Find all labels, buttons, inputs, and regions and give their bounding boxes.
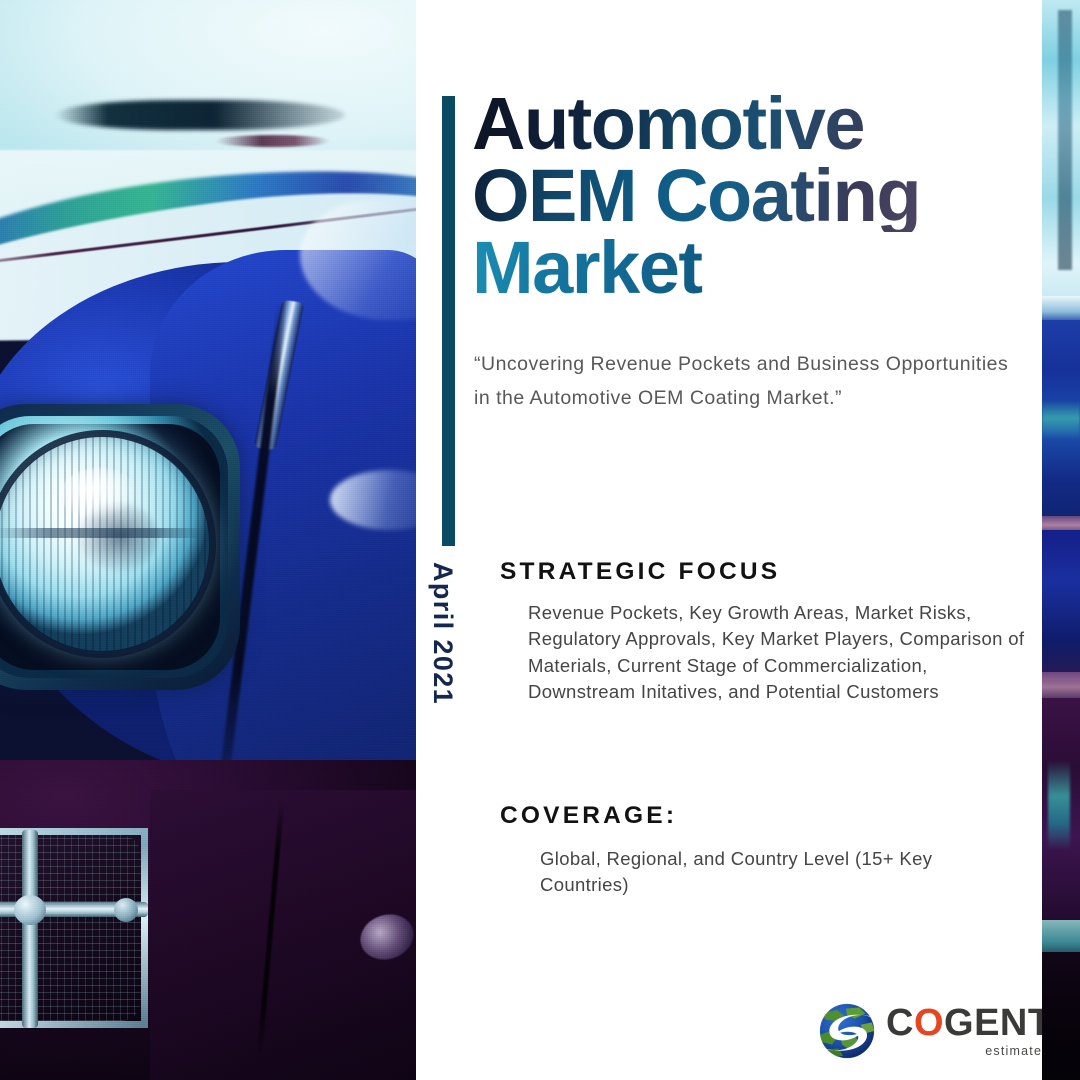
page-title-line-1: Automotive	[472, 88, 1032, 160]
logo-word: COGENT	[886, 1004, 1052, 1042]
logo-word-part1: C	[886, 1002, 914, 1044]
cogent-estimates-logo: COGENT estimates	[816, 1000, 1052, 1062]
page-title-line-3: Market	[472, 232, 1032, 304]
subtitle-quote: “Uncovering Revenue Pockets and Business…	[474, 348, 1020, 415]
right-photo-strip	[1042, 0, 1080, 1080]
page-title: Automotive OEM Coating Market	[472, 88, 1032, 303]
strategic-focus-body: Revenue Pockets, Key Growth Areas, Marke…	[528, 600, 1028, 706]
strip-blue-body-lower	[1042, 530, 1080, 680]
strip-teal-highlight	[1042, 400, 1080, 440]
strip-shadow-band	[1042, 952, 1080, 1080]
publication-date: April 2021	[424, 562, 458, 782]
coverage-body: Global, Regional, and Country Level (15+…	[540, 846, 1010, 899]
left-photo-classic-car	[0, 0, 416, 1080]
globe-icon	[816, 1000, 878, 1062]
photo-film-grain	[0, 0, 416, 1080]
logo-wordmark: COGENT estimates	[886, 1004, 1052, 1058]
strip-chrome-band	[1042, 296, 1080, 322]
title-accent-bar	[442, 96, 455, 546]
strip-dark-column	[1058, 10, 1072, 270]
strip-teal-accent	[1048, 760, 1070, 850]
poster-canvas: Automotive OEM Coating Market “Uncoverin…	[0, 0, 1080, 1080]
page-title-line-2: OEM Coating	[472, 160, 1032, 232]
logo-tagline: estimates	[985, 1045, 1049, 1058]
logo-word-part2: GENT	[944, 1002, 1052, 1044]
coverage-heading: COVERAGE:	[500, 802, 677, 830]
logo-word-accent: O	[914, 1002, 944, 1044]
content-panel: Automotive OEM Coating Market “Uncoverin…	[416, 0, 1042, 1080]
strategic-focus-heading: STRATEGIC FOCUS	[500, 558, 780, 586]
